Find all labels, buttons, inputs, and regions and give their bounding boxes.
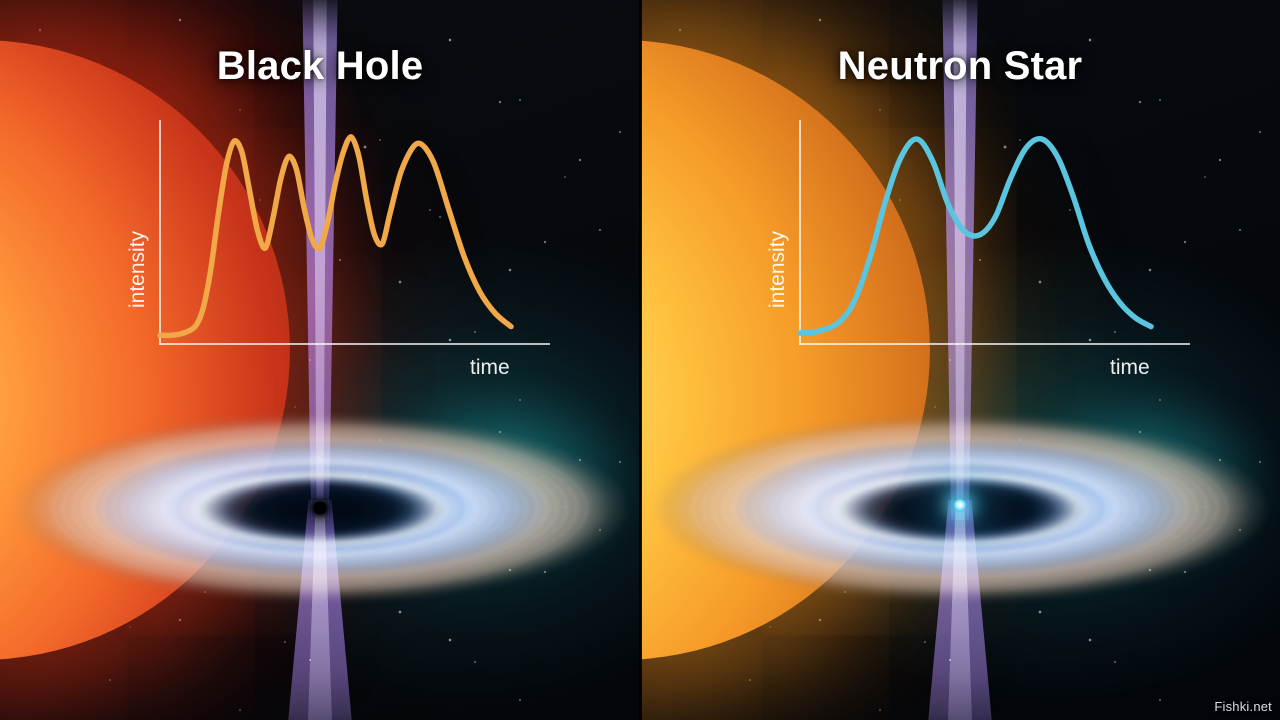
panel-divider — [639, 0, 642, 720]
event-horizon-icon — [314, 502, 327, 515]
y-axis-label-black-hole: intensity — [126, 230, 149, 308]
lightcurve-line-black-hole — [160, 137, 511, 336]
page-title-neutron-star: Neutron Star — [640, 44, 1280, 89]
watermark: Fishki.net — [1214, 699, 1272, 714]
lightcurve-chart-neutron-star: intensity time — [758, 112, 1198, 382]
lightcurve-chart-black-hole: intensity time — [118, 112, 558, 382]
neutron-star-core-icon — [953, 498, 967, 512]
chart-axes-neutron-star — [800, 120, 1190, 344]
comparison-figure: Black Hole intensity time — [0, 0, 1280, 720]
lightcurve-line-neutron-star — [800, 139, 1151, 333]
y-axis-label-neutron-star: intensity — [766, 230, 789, 308]
x-axis-label-neutron-star: time — [1110, 356, 1150, 379]
page-title-black-hole: Black Hole — [0, 44, 640, 89]
panel-black-hole: Black Hole intensity time — [0, 0, 640, 720]
panel-neutron-star: Neutron Star intensity time — [640, 0, 1280, 720]
x-axis-label-black-hole: time — [470, 356, 510, 379]
